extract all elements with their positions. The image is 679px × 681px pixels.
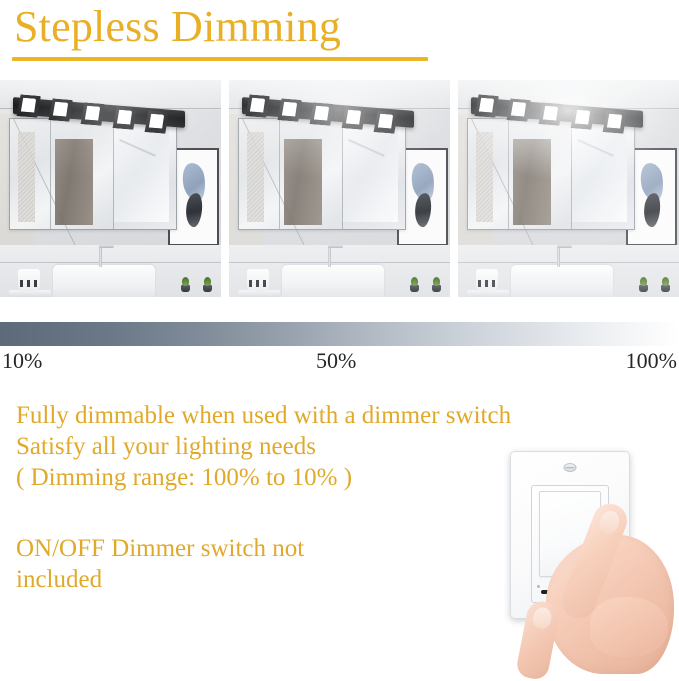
mirror-reflection-stone [476,132,493,222]
light-head [47,98,73,122]
light-head [340,106,366,130]
disclaimer-line-2: included [16,564,376,595]
scale-label-min: 10% [2,348,42,374]
light-head [308,102,334,126]
page-title: Stepless Dimming [14,0,341,56]
sink-basin [511,265,613,297]
potted-plant [661,276,670,292]
disclaimer-line-1: ON/OFF Dimmer switch not [16,533,376,564]
brightness-gradient-bar [0,322,679,346]
vanity-tray [467,290,509,297]
light-head [569,106,595,130]
faucet [99,247,102,267]
mirror-reflection-marble [113,128,169,223]
dimmer-switch-illustration [494,447,679,674]
scale-label-max: 100% [626,348,677,374]
vanity-light-fixture [471,94,643,140]
feature-line-1: Fully dimmable when used with a dimmer s… [16,400,616,431]
brightness-scale-labels: 10% 50% 100% [0,348,679,374]
bathroom-scene [458,80,679,297]
mirror-reflection-marble [342,128,398,223]
potted-plant [410,276,419,292]
counter-edge [0,262,221,263]
sink-basin [53,265,155,297]
thumb [515,599,561,681]
vanity-light-fixture [242,94,414,140]
light-head [537,102,563,126]
faucet [328,247,331,267]
vanity-light-fixture [13,94,185,140]
faucet [557,247,560,267]
light-head [111,106,137,130]
light-head [15,94,41,118]
product-photo-10-percent [0,80,221,297]
thumb-nail [531,606,553,630]
light-head [244,94,270,118]
vanity-tray [9,290,51,297]
counter-edge [458,262,679,263]
light-head [473,94,499,118]
mirror-reflection-stone [18,132,35,222]
mirror-reflection-door [55,139,93,225]
mirror-reflection-door [284,139,322,225]
scale-label-mid: 50% [316,348,356,374]
title-underline-rule [12,57,428,61]
light-head [79,102,105,126]
potted-plant [203,276,212,292]
product-photo-100-percent [458,80,679,297]
disclaimer-copy-block: ON/OFF Dimmer switch not included [16,533,376,595]
bathroom-scene [229,80,450,297]
mirror-reflection-stone [247,132,264,222]
mirror-reflection-marble [571,128,627,223]
light-head [276,98,302,122]
light-head [143,110,169,134]
sink-basin [282,265,384,297]
finger-nail [596,508,622,536]
light-head [505,98,531,122]
knuckles [590,597,668,657]
light-head [601,110,627,134]
soap-dispenser [18,269,40,291]
counter-edge [229,262,450,263]
potted-plant [181,276,190,292]
bathroom-scene [0,80,221,297]
hand-illustration [494,447,679,674]
light-head [372,110,398,134]
product-photo-50-percent [229,80,450,297]
mirror-reflection-door [513,139,551,225]
potted-plant [639,276,648,292]
vanity-tray [238,290,280,297]
product-photo-strip [0,80,679,297]
potted-plant [432,276,441,292]
soap-dispenser [247,269,269,291]
soap-dispenser [476,269,498,291]
